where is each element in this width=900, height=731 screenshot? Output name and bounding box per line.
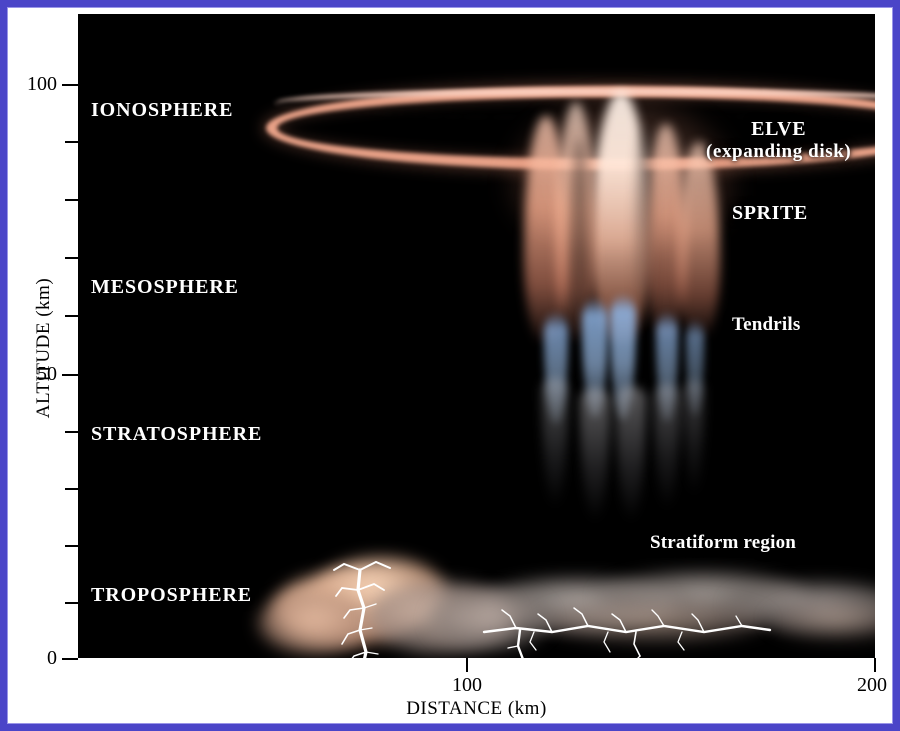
sky-plot-area: IONOSPHERE MESOSPHERE STRATOSPHERE TROPO… [78,14,875,658]
stratiform-region-label: Stratiform region [650,532,796,554]
layer-label-troposphere: TROPOSPHERE [91,584,252,607]
x-tick-200 [874,658,876,672]
y-tick-60 [65,315,78,317]
figure-container: ALTITUDE (km) 100 50 0 100 200 DISTANCE … [0,0,900,731]
elve-sublabel: (expanding disk) [706,141,851,163]
layer-label-stratosphere: STRATOSPHERE [91,423,262,446]
sprite-label: SPRITE [732,202,808,225]
tendril-wisp-2 [580,388,610,522]
y-tick-0 [62,658,78,660]
y-tick-label-100: 100 [27,73,57,96]
y-tick-30 [65,488,78,490]
tendril-wisp-3 [616,386,646,522]
elve-label: ELVE [751,118,806,140]
tendrils-label: Tendrils [732,314,800,336]
y-tick-40 [65,431,78,433]
y-tick-20 [65,545,78,547]
y-tick-80 [65,199,78,201]
y-tick-10 [65,602,78,604]
tendril-wisp-5 [684,380,704,496]
tendril-wisp-1 [542,378,568,508]
x-tick-100 [466,658,468,672]
y-tick-50 [62,374,78,376]
y-tick-100 [62,84,78,86]
spider-lightning-icon [476,592,776,658]
elve-label-group: ELVE (expanding disk) [706,118,851,163]
cloud-to-ground-lightning-icon [314,552,434,658]
layer-label-mesosphere: MESOSPHERE [91,276,239,299]
stratiform-blob-5 [768,600,875,640]
layer-label-ionosphere: IONOSPHERE [91,99,233,122]
x-tick-label-200: 200 [857,674,887,697]
y-tick-90 [65,141,78,143]
x-tick-label-100: 100 [452,674,482,697]
y-tick-label-0: 0 [47,647,57,670]
y-tick-label-50: 50 [37,363,57,386]
tendril-wisp-4 [654,384,680,510]
x-axis-title: DISTANCE (km) [78,698,875,720]
y-tick-70 [65,257,78,259]
y-axis-title: ALTITUDE (km) [33,68,55,628]
